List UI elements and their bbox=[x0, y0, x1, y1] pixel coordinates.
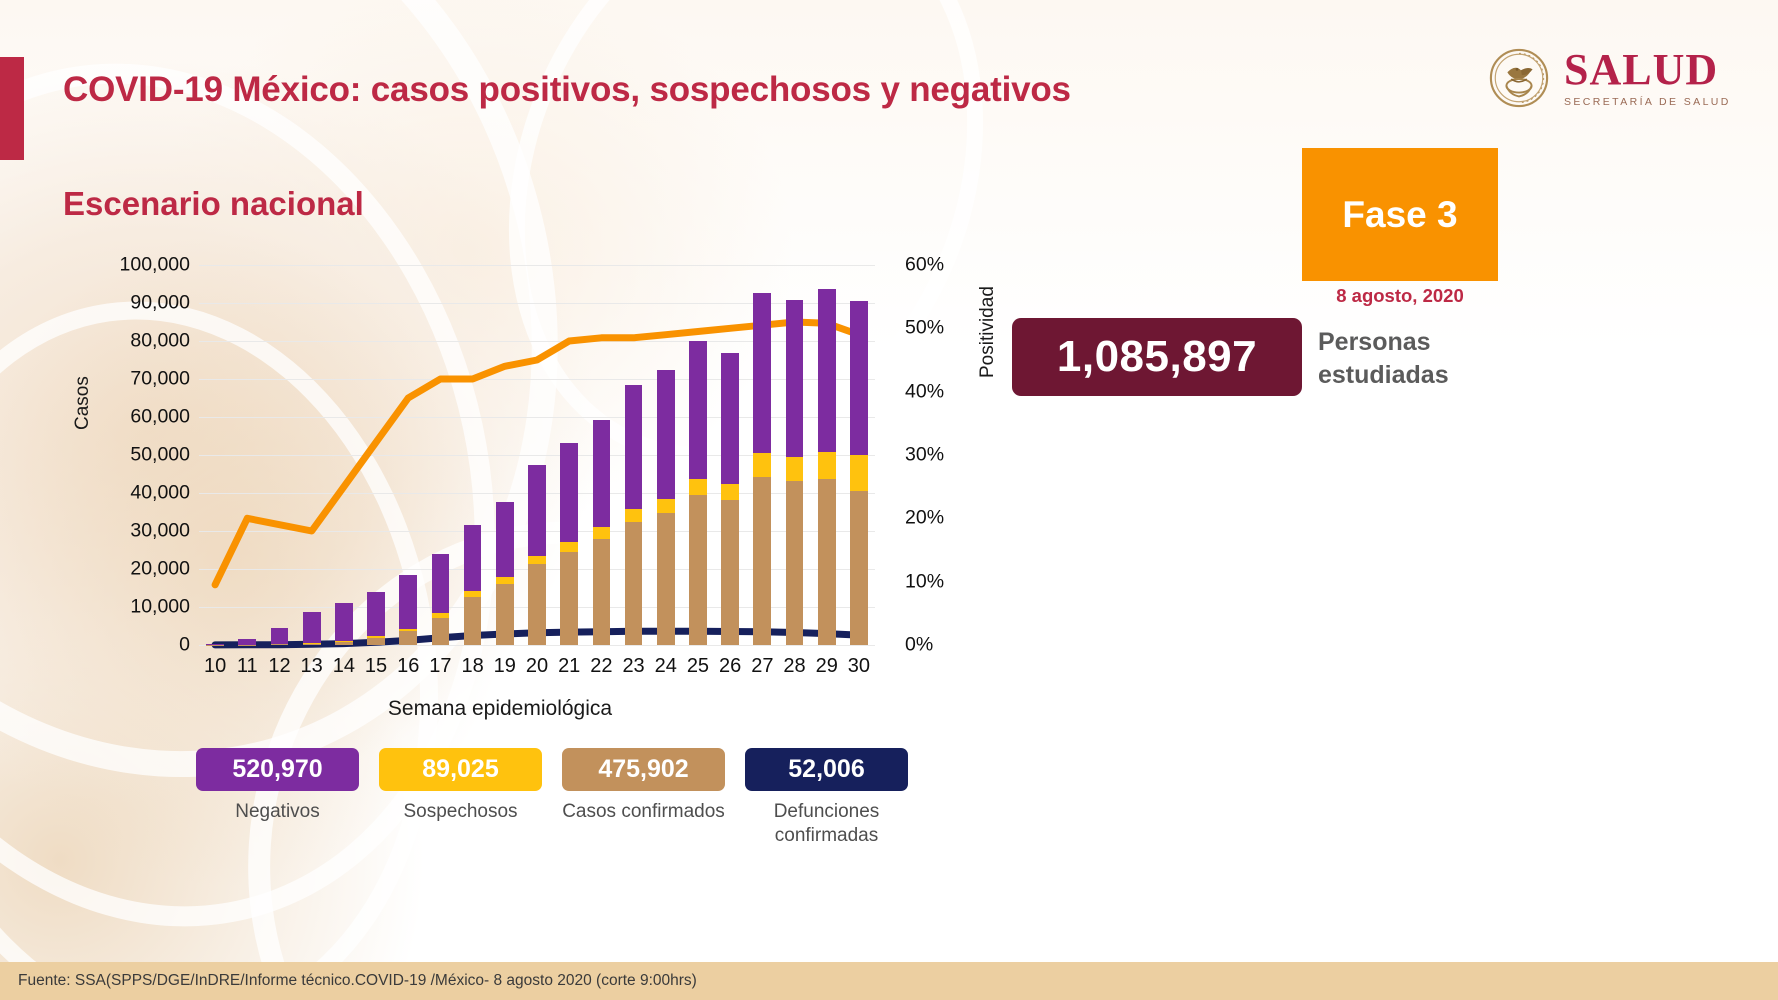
x-axis-tick-label: 10 bbox=[204, 655, 226, 678]
x-axis-tick-label: 22 bbox=[590, 655, 612, 678]
bar-segment-susp bbox=[625, 509, 643, 522]
chart-legend: 520,970Negativos89,025Sospechosos475,902… bbox=[196, 748, 936, 848]
bar-segment-conf bbox=[721, 500, 739, 645]
chart-bar bbox=[206, 644, 224, 645]
left-accent-bar bbox=[0, 57, 24, 160]
x-axis-ticks: 1011121314151617181920212223242526272829… bbox=[199, 655, 875, 685]
x-axis-tick-label: 16 bbox=[397, 655, 419, 678]
people-studied-number: 1,085,897 bbox=[1057, 332, 1257, 382]
y2-axis-tick-label: 40% bbox=[905, 380, 975, 403]
logo-wordmark: SALUD bbox=[1564, 48, 1731, 92]
bar-segment-neg bbox=[303, 612, 321, 643]
y-axis-tick-label: 0 bbox=[98, 634, 190, 657]
chart-bar bbox=[689, 341, 707, 645]
x-axis-tick-label: 30 bbox=[848, 655, 870, 678]
bar-segment-susp bbox=[528, 556, 546, 564]
bar-segment-conf bbox=[753, 477, 771, 645]
legend-item: 475,902Casos confirmados bbox=[562, 748, 725, 824]
chart-bar bbox=[625, 385, 643, 645]
section-title: Escenario nacional bbox=[63, 185, 364, 223]
y2-axis-tick-label: 30% bbox=[905, 444, 975, 467]
bar-segment-susp bbox=[496, 577, 514, 584]
bar-segment-neg bbox=[560, 443, 578, 542]
footer-bar: Fuente: SSA(SPPS/DGE/InDRE/Informe técni… bbox=[0, 962, 1778, 1000]
y-axis-tick-label: 60,000 bbox=[98, 406, 190, 429]
legend-value-chip: 475,902 bbox=[562, 748, 725, 791]
chart-bar bbox=[496, 502, 514, 645]
bar-segment-neg bbox=[367, 592, 385, 636]
bar-segment-neg bbox=[721, 353, 739, 484]
legend-label: Defunciones confirmadas bbox=[745, 800, 908, 848]
people-studied-badge: 1,085,897 bbox=[1012, 318, 1302, 396]
y2-axis-title: Positividad bbox=[977, 286, 999, 378]
y-axis-tick-label: 70,000 bbox=[98, 368, 190, 391]
y-axis-tick-label: 30,000 bbox=[98, 520, 190, 543]
chart-bar bbox=[335, 603, 353, 645]
chart-bar bbox=[753, 293, 771, 645]
source-text: Fuente: SSA(SPPS/DGE/InDRE/Informe técni… bbox=[18, 972, 697, 990]
bar-segment-neg bbox=[657, 370, 675, 498]
bar-segment-susp bbox=[753, 453, 771, 477]
mexican-coat-of-arms-icon bbox=[1488, 47, 1550, 109]
x-axis-tick-label: 19 bbox=[494, 655, 516, 678]
bar-segment-susp bbox=[689, 479, 707, 495]
y2-axis-tick-label: 10% bbox=[905, 570, 975, 593]
y-axis-tick-label: 80,000 bbox=[98, 330, 190, 353]
x-axis-tick-label: 13 bbox=[301, 655, 323, 678]
phase-label: Fase 3 bbox=[1342, 194, 1457, 236]
bar-segment-conf bbox=[560, 552, 578, 645]
y-axis-tick-label: 90,000 bbox=[98, 292, 190, 315]
bar-segment-conf bbox=[593, 539, 611, 645]
bar-segment-conf bbox=[303, 644, 321, 645]
bar-segment-neg bbox=[786, 300, 804, 457]
bar-segment-neg bbox=[753, 293, 771, 453]
bar-segment-conf bbox=[850, 491, 868, 645]
y-axis-tick-label: 20,000 bbox=[98, 558, 190, 581]
bar-segment-conf bbox=[496, 584, 514, 645]
bar-segment-susp bbox=[850, 455, 868, 491]
salud-logo: SALUD SECRETARÍA DE SALUD bbox=[1488, 47, 1731, 109]
legend-item: 520,970Negativos bbox=[196, 748, 359, 824]
chart-bar bbox=[721, 353, 739, 645]
bar-segment-conf bbox=[625, 522, 643, 645]
bar-segment-conf bbox=[689, 495, 707, 645]
chart-bar bbox=[432, 554, 450, 645]
people-studied-label: Personas estudiadas bbox=[1318, 326, 1568, 391]
bar-segment-conf bbox=[464, 597, 482, 645]
chart-bar bbox=[238, 639, 256, 645]
logo-subtitle: SECRETARÍA DE SALUD bbox=[1564, 96, 1731, 108]
page-title: COVID-19 México: casos positivos, sospec… bbox=[63, 70, 1071, 110]
legend-item: 52,006Defunciones confirmadas bbox=[745, 748, 908, 848]
bar-segment-conf bbox=[786, 481, 804, 645]
x-axis-tick-label: 11 bbox=[237, 655, 258, 678]
bar-segment-susp bbox=[560, 542, 578, 552]
chart-plot-area bbox=[199, 265, 875, 645]
bar-segment-conf bbox=[432, 618, 450, 645]
bar-segment-neg bbox=[335, 603, 353, 641]
y-axis-tick-label: 50,000 bbox=[98, 444, 190, 467]
bar-segment-neg bbox=[399, 575, 417, 628]
x-axis-tick-label: 14 bbox=[333, 655, 355, 678]
chart-bar bbox=[464, 525, 482, 645]
chart-bar bbox=[303, 612, 321, 645]
x-axis-tick-label: 28 bbox=[783, 655, 805, 678]
bar-segment-neg bbox=[432, 554, 450, 613]
bar-segment-susp bbox=[593, 527, 611, 538]
y-axis-ticks: 010,00020,00030,00040,00050,00060,00070,… bbox=[98, 255, 190, 645]
y2-axis-tick-label: 20% bbox=[905, 507, 975, 530]
bar-segment-susp bbox=[657, 499, 675, 513]
x-axis-tick-label: 24 bbox=[655, 655, 677, 678]
phase-badge: Fase 3 bbox=[1302, 148, 1498, 281]
chart-bar bbox=[818, 289, 836, 645]
bar-segment-conf bbox=[367, 638, 385, 645]
bar-segment-neg bbox=[689, 341, 707, 479]
x-axis-tick-label: 27 bbox=[751, 655, 773, 678]
chart-bar bbox=[593, 420, 611, 645]
y-axis-title: Casos bbox=[72, 376, 94, 430]
x-axis-title: Semana epidemiológica bbox=[0, 697, 1000, 721]
y-axis-tick-label: 100,000 bbox=[98, 254, 190, 277]
legend-label: Casos confirmados bbox=[562, 800, 725, 824]
bar-segment-susp bbox=[721, 484, 739, 500]
chart-bar bbox=[528, 465, 546, 645]
y-axis-tick-label: 40,000 bbox=[98, 482, 190, 505]
bar-segment-conf bbox=[818, 479, 836, 645]
bar-segment-conf bbox=[528, 564, 546, 645]
report-date: 8 agosto, 2020 bbox=[1302, 285, 1498, 307]
x-axis-tick-label: 17 bbox=[429, 655, 451, 678]
legend-label: Negativos bbox=[196, 800, 359, 824]
chart-bar bbox=[850, 301, 868, 645]
y2-axis-tick-label: 50% bbox=[905, 317, 975, 340]
bar-segment-neg bbox=[496, 502, 514, 577]
bar-segment-conf bbox=[271, 644, 289, 645]
bar-segment-neg bbox=[528, 465, 546, 557]
x-axis-tick-label: 18 bbox=[461, 655, 483, 678]
y-axis-tick-label: 10,000 bbox=[98, 596, 190, 619]
chart-bar bbox=[786, 300, 804, 645]
bar-segment-neg bbox=[593, 420, 611, 527]
legend-item: 89,025Sospechosos bbox=[379, 748, 542, 824]
x-axis-tick-label: 26 bbox=[719, 655, 741, 678]
x-axis-tick-label: 25 bbox=[687, 655, 709, 678]
x-axis-tick-label: 20 bbox=[526, 655, 548, 678]
bar-segment-conf bbox=[657, 513, 675, 645]
chart-bar bbox=[367, 592, 385, 645]
chart-bar bbox=[560, 443, 578, 645]
bar-segment-neg bbox=[818, 289, 836, 452]
y2-axis-tick-label: 60% bbox=[905, 254, 975, 277]
x-axis-tick-label: 12 bbox=[268, 655, 290, 678]
x-axis-tick-label: 23 bbox=[622, 655, 644, 678]
legend-value-chip: 52,006 bbox=[745, 748, 908, 791]
x-axis-tick-label: 21 bbox=[558, 655, 580, 678]
x-axis-tick-label: 15 bbox=[365, 655, 387, 678]
bar-segment-susp bbox=[786, 457, 804, 481]
chart-bar bbox=[399, 575, 417, 645]
chart-bar bbox=[657, 370, 675, 645]
bar-segment-conf bbox=[335, 642, 353, 645]
x-axis-tick-label: 29 bbox=[816, 655, 838, 678]
legend-value-chip: 520,970 bbox=[196, 748, 359, 791]
chart-bar bbox=[271, 628, 289, 645]
legend-value-chip: 89,025 bbox=[379, 748, 542, 791]
bar-segment-neg bbox=[850, 301, 868, 456]
bar-segment-conf bbox=[399, 631, 417, 645]
y2-axis-tick-label: 0% bbox=[905, 634, 975, 657]
bar-segment-neg bbox=[464, 525, 482, 591]
y2-axis-ticks: 0%10%20%30%40%50%60% bbox=[905, 255, 975, 645]
bar-segment-neg bbox=[271, 628, 289, 645]
bar-segment-neg bbox=[625, 385, 643, 509]
bar-segment-susp bbox=[818, 452, 836, 478]
legend-label: Sospechosos bbox=[379, 800, 542, 824]
